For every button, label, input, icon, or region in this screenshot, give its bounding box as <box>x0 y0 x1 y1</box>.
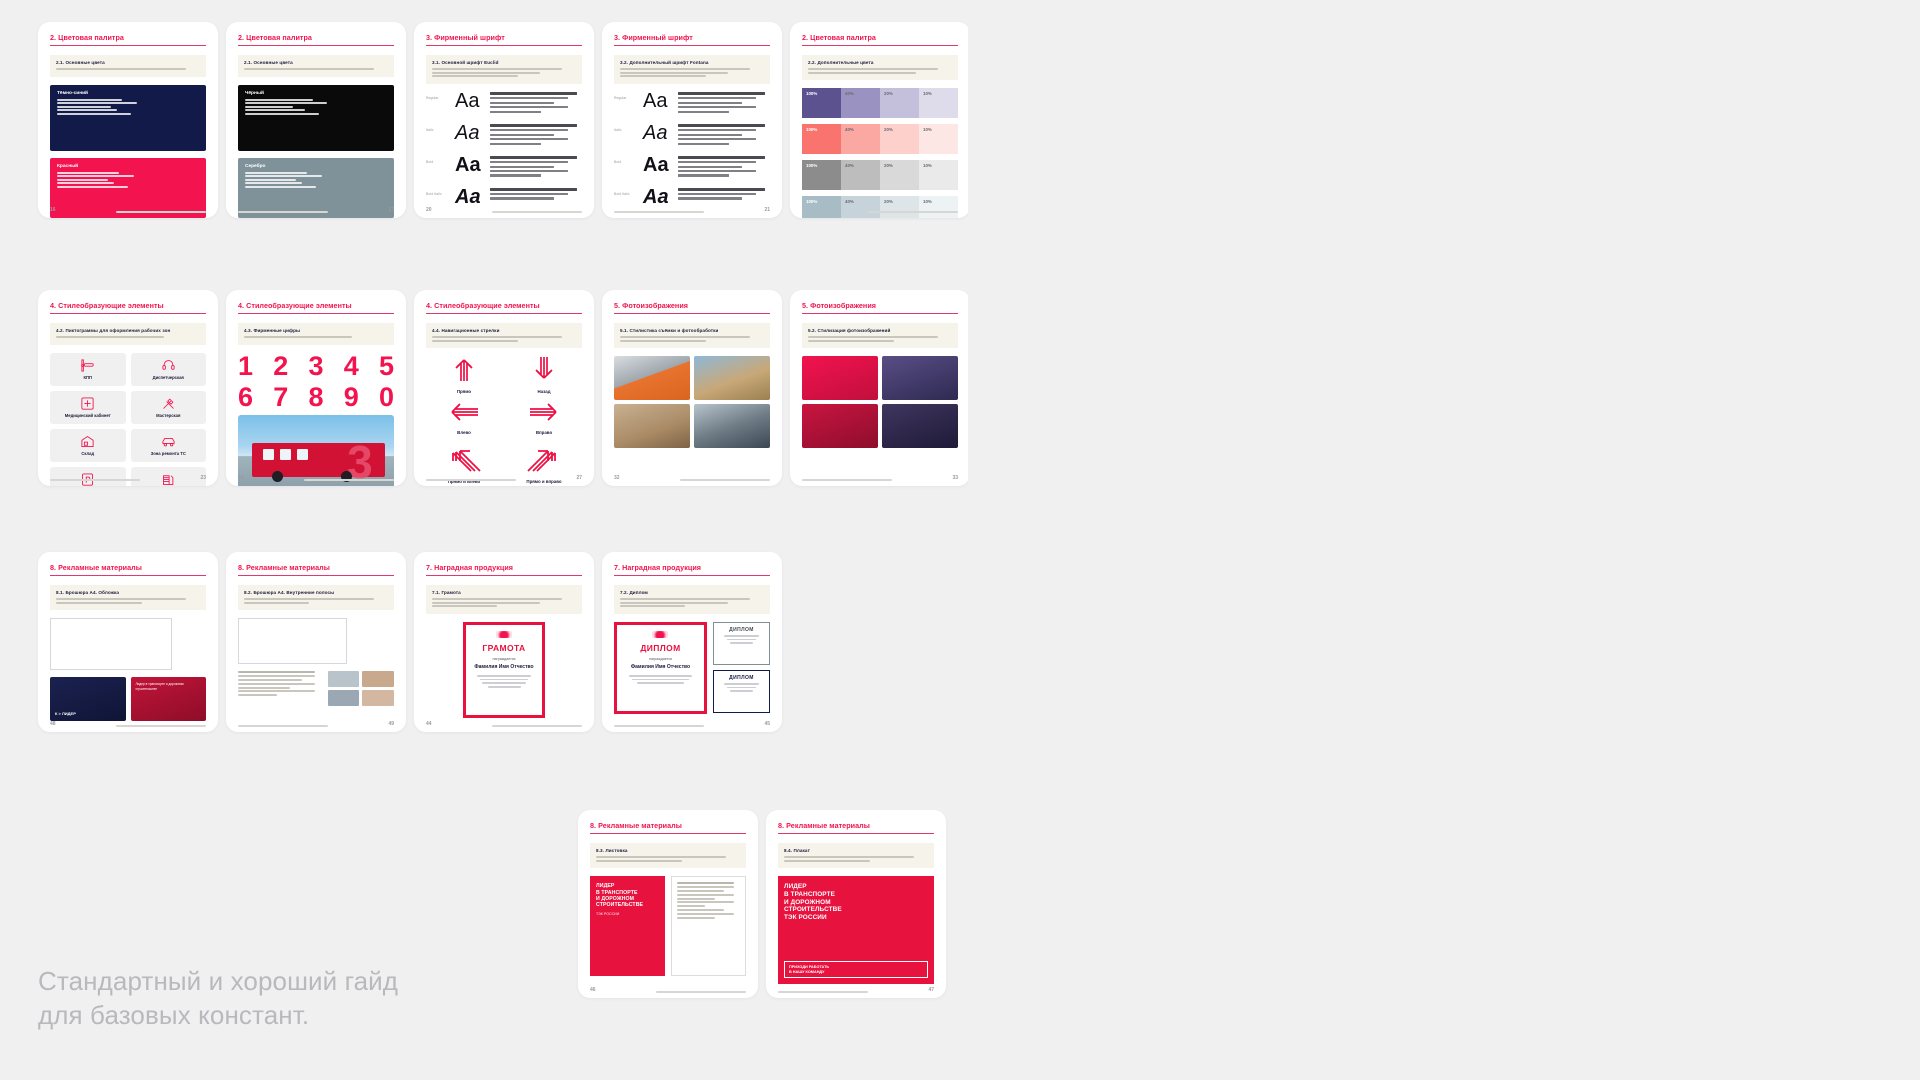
flyer-front: ЛИДЕР В ТРАНСПОРТЕ И ДОРОЖНОМ СТРОИТЕЛЬС… <box>590 876 665 976</box>
sheet-note: 2.1. Основные цвета <box>238 55 394 76</box>
comparison-slide: 2. Цветовая палитра 2.1. Основные цвета … <box>0 0 1920 1080</box>
sheet-ads-brochure-cover[interactable]: 8. Рекламные материалы 8.1. Брошюра А4. … <box>38 552 218 732</box>
arrow-left-icon <box>449 401 479 423</box>
sheet-elements-numerals[interactable]: 4. Стилеобразующие элементы 4.3. Фирменн… <box>226 290 406 486</box>
vehicle-repair-icon <box>161 434 176 449</box>
font-specimen-row: Regular Aa <box>426 92 582 115</box>
sheet-note: 8.3. Листовка <box>590 843 746 868</box>
sheet-heading: 7. Наградная продукция <box>614 563 770 572</box>
brochure-text-block <box>238 671 324 706</box>
sheet-footer: 48 <box>50 721 206 727</box>
creative-panel: АУДИТ В ОБЛАСТИ ДОРОЖНОГО СТРОИТЕЛЬСТВА … <box>968 0 1920 1080</box>
heading-rule <box>590 833 746 834</box>
sheet-heading: 2. Цветовая палитра <box>50 33 206 42</box>
arrow-up-icon <box>449 356 479 382</box>
sheet-awards-gramota[interactable]: 7. Наградная продукция 7.1. Грамота ГРАМ… <box>414 552 594 732</box>
certificate-logo <box>496 631 512 638</box>
sheet-heading: 7. Наградная продукция <box>426 563 582 572</box>
sheet-palette-2[interactable]: 2. Цветовая палитра 2.1. Основные цвета … <box>226 22 406 218</box>
font-specimen-row: Bold Italic Aa <box>614 188 770 207</box>
sheet-heading: 8. Рекламные материалы <box>50 563 206 572</box>
sheet-note: 4.3. Фирменные цифры <box>238 323 394 344</box>
font-specimen-row: Regular Aa <box>614 92 770 115</box>
sheet-elements-arrows[interactable]: 4. Стилеобразующие элементы 4.4. Навигац… <box>414 290 594 486</box>
heading-rule <box>426 313 582 314</box>
specimen-aa: Aa <box>455 188 483 207</box>
heading-rule <box>778 833 934 834</box>
flyer-back <box>671 876 746 976</box>
tools-icon <box>161 396 176 411</box>
brochure-wireframe <box>50 618 172 670</box>
heading-rule <box>614 313 770 314</box>
arrow-down: Назад <box>506 356 582 394</box>
sheet-awards-diplom[interactable]: 7. Наградная продукция 7.2. Диплом ДИПЛО… <box>602 552 782 732</box>
pictogram-medical[interactable]: Медицинский кабинет <box>50 391 126 424</box>
pictogram-vehicle-repair[interactable]: Зона ремонта ТС <box>131 429 207 462</box>
sheet-footer <box>802 211 958 213</box>
sheet-footer: 32 <box>614 475 770 481</box>
certificate-diplom-main: ДИПЛОМ награждается Фамилия Имя Отчество <box>614 622 707 714</box>
sheet-note: 7.1. Грамота <box>426 585 582 614</box>
medical-cross-icon <box>80 396 95 411</box>
sheet-heading: 5. Фотоизображения <box>802 301 958 310</box>
specimen-aa: Aa <box>455 92 483 111</box>
heading-rule <box>238 575 394 576</box>
pictogram-warehouse[interactable]: Склад <box>50 429 126 462</box>
certificate-title: ГРАМОТА <box>471 643 537 653</box>
heading-rule <box>614 45 770 46</box>
pictogram-dispatcher[interactable]: Диспетчерская <box>131 353 207 386</box>
certificate-subtitle: награждается <box>622 657 699 661</box>
certificate-title: ДИПЛОМ <box>622 643 699 653</box>
arrow-left: Влево <box>426 401 502 435</box>
sheet-note: 8.2. Брошюра А4. Внутренние полосы <box>238 585 394 610</box>
font-specimen-row: Bold Aa <box>614 156 770 179</box>
sheet-font-1[interactable]: 3. Фирменный шрифт 3.1. Основной шрифт E… <box>414 22 594 218</box>
arrow-right-icon <box>529 401 559 423</box>
certificate-name: Фамилия Имя Отчество <box>471 664 537 670</box>
sheet-note: 2.2. Дополнительные цвета <box>802 55 958 80</box>
sheet-note: 3.2. Дополнительный шрифт Fontana <box>614 55 770 84</box>
sheet-note: 7.2. Диплом <box>614 585 770 614</box>
certificate-name: Фамилия Имя Отчество <box>622 664 699 670</box>
pictogram-barrier[interactable]: КПП <box>50 353 126 386</box>
sheet-heading: 4. Стилеобразующие элементы <box>426 301 582 310</box>
sheet-note: 8.1. Брошюра А4. Обложка <box>50 585 206 610</box>
left-caption: Стандартный и хороший гайд для базовых к… <box>38 965 398 1032</box>
sheet-photo-1[interactable]: 5. Фотоизображения 5.1. Стилистика съёмк… <box>602 290 782 486</box>
sheet-note: 4.2. Пиктограммы для оформления рабочих … <box>50 323 206 344</box>
swatch-dark-blue: Тёмно-синий <box>50 85 206 151</box>
pictogram-workshop[interactable]: Мастерская <box>131 391 207 424</box>
brochure-preview-front: К > ЛИДЕР <box>50 677 126 721</box>
numeral-row-2: 6 7 8 9 0 <box>238 384 394 411</box>
specimen-aa: Aa <box>643 92 671 111</box>
heading-rule <box>802 313 958 314</box>
certificate-body <box>717 635 766 644</box>
heading-rule <box>50 313 206 314</box>
tint-row-coral: 100% 40% 20% 10% <box>802 124 958 154</box>
sheet-note: 8.4. Плакат <box>778 843 934 868</box>
certificate-title: ДИПЛОМ <box>717 627 766 633</box>
sheet-note: 5.2. Стилизация фотоизображений <box>802 323 958 348</box>
certificate-title: ДИПЛОМ <box>717 675 766 681</box>
poster-preview: ЛИДЕР В ТРАНСПОРТЕ И ДОРОЖНОМ СТРОИТЕЛЬС… <box>778 876 934 984</box>
sheet-heading: 2. Цветовая палитра <box>238 33 394 42</box>
sheet-footer: 17 <box>238 207 394 213</box>
font-specimen-row: Italic Aa <box>426 124 582 147</box>
sheet-heading: 8. Рекламные материалы <box>778 821 934 830</box>
certificate-diplom-variant-1: ДИПЛОМ <box>713 622 770 665</box>
sheet-palette-3[interactable]: 2. Цветовая палитра 2.2. Дополнительные … <box>790 22 970 218</box>
sheet-note: 4.4. Навигационные стрелки <box>426 323 582 348</box>
brochure-preview-back: Лидер в транспорте и дорожном строительс… <box>131 677 207 721</box>
warehouse-icon <box>80 434 95 449</box>
arrow-down-icon <box>529 356 559 382</box>
tint-row-purple: 100% 40% 20% 10% <box>802 88 958 118</box>
specimen-aa: Aa <box>643 156 671 175</box>
sheet-footer: 49 <box>238 721 394 727</box>
heading-rule <box>50 575 206 576</box>
heading-rule <box>426 45 582 46</box>
heading-rule <box>426 575 582 576</box>
sheet-ads-poster[interactable]: 8. Рекламные материалы 8.4. Плакат ЛИДЕР… <box>766 810 946 998</box>
heading-rule <box>238 45 394 46</box>
arrow-right: Вправо <box>506 401 582 435</box>
sheet-font-2[interactable]: 3. Фирменный шрифт 3.2. Дополнительный ш… <box>602 22 782 218</box>
sheet-footer: 44 <box>426 721 582 727</box>
sheet-footer: 21 <box>614 207 770 213</box>
certificate-diplom-variant-2: ДИПЛОМ <box>713 670 770 713</box>
poster-cta-box: ПРИХОДИ РАБОТАТЬ В НАШУ КОМАНДУ <box>784 961 928 978</box>
brochure-image-grid <box>328 671 394 706</box>
sheet-footer: 46 <box>590 987 746 993</box>
specimen-aa: Aa <box>643 188 671 207</box>
specimen-aa: Aa <box>643 124 671 143</box>
sheet-footer: 16 <box>50 207 206 213</box>
certificate-body <box>717 683 766 692</box>
barrier-icon <box>80 358 95 373</box>
numeral-row-1: 1 2 3 4 5 <box>238 353 394 380</box>
guidebook-panel: 2. Цветовая палитра 2.1. Основные цвета … <box>0 0 968 1080</box>
sheet-ads-brochure-inner[interactable]: 8. Рекламные материалы 8.2. Брошюра А4. … <box>226 552 406 732</box>
sheet-heading: 3. Фирменный шрифт <box>614 33 770 42</box>
sheet-footer: 45 <box>614 721 770 727</box>
headset-icon <box>161 358 176 373</box>
arrow-up: Прямо <box>426 356 502 394</box>
tint-row-grey: 100% 40% 20% 10% <box>802 160 958 190</box>
sheet-footer: 24 <box>238 475 394 481</box>
sheet-footer: 33 <box>802 475 958 481</box>
sheet-footer: 47 <box>778 987 934 993</box>
specimen-aa: Aa <box>455 124 483 143</box>
sheet-footer: 27 <box>426 475 582 481</box>
arrow-up-right-icon <box>527 442 561 472</box>
sheet-heading: 4. Стилеобразующие элементы <box>238 301 394 310</box>
sheet-palette-1[interactable]: 2. Цветовая палитра 2.1. Основные цвета … <box>38 22 218 218</box>
sheet-heading: 4. Стилеобразующие элементы <box>50 301 206 310</box>
sheet-photo-2[interactable]: 5. Фотоизображения 5.2. Стилизация фотои… <box>790 290 970 486</box>
font-specimen-row: Italic Aa <box>614 124 770 147</box>
certificate-body <box>471 675 537 687</box>
brochure-inner-wireframe <box>238 618 347 664</box>
sheet-heading: 8. Рекламные материалы <box>238 563 394 572</box>
certificate-logo <box>652 631 668 638</box>
photo-mosaic <box>614 356 770 448</box>
heading-rule <box>614 575 770 576</box>
swatch-black: Чёрный <box>238 85 394 151</box>
certificate-body <box>622 675 699 684</box>
sheet-note: 3.1. Основной шрифт Euclid <box>426 55 582 84</box>
specimen-aa: Aa <box>455 156 483 175</box>
tint-row-steel: 100% 40% 20% 10% <box>802 196 958 218</box>
sheet-heading: 3. Фирменный шрифт <box>426 33 582 42</box>
sheet-footer: 23 <box>50 475 206 481</box>
sheet-ads-flyer[interactable]: 8. Рекламные материалы 8.3. Листовка ЛИД… <box>578 810 758 998</box>
sheet-note: 2.1. Основные цвета <box>50 55 206 76</box>
heading-rule <box>238 313 394 314</box>
pictogram-grid: КПП Диспетчерская Медицинский кабинет Ма… <box>50 353 206 486</box>
sheet-heading: 8. Рекламные материалы <box>590 821 746 830</box>
certificate-gramota: ГРАМОТА награждается Фамилия Имя Отчеств… <box>463 622 545 718</box>
photo-mosaic-duotone <box>802 356 958 448</box>
certificate-subtitle: награждается <box>471 657 537 661</box>
sheet-heading: 5. Фотоизображения <box>614 301 770 310</box>
heading-rule <box>50 45 206 46</box>
sheet-elements-pictograms[interactable]: 4. Стилеобразующие элементы 4.2. Пиктогр… <box>38 290 218 486</box>
arrow-up-left-icon <box>447 442 481 472</box>
sheet-note: 5.1. Стилистика съёмки и фотообработки <box>614 323 770 348</box>
sheet-heading: 2. Цветовая палитра <box>802 33 958 42</box>
guidebook-sheet-grid: 2. Цветовая палитра 2.1. Основные цвета … <box>0 0 968 1080</box>
sheet-footer: 20 <box>426 207 582 213</box>
font-specimen-row: Bold Italic Aa <box>426 188 582 207</box>
heading-rule <box>802 45 958 46</box>
font-specimen-row: Bold Aa <box>426 156 582 179</box>
